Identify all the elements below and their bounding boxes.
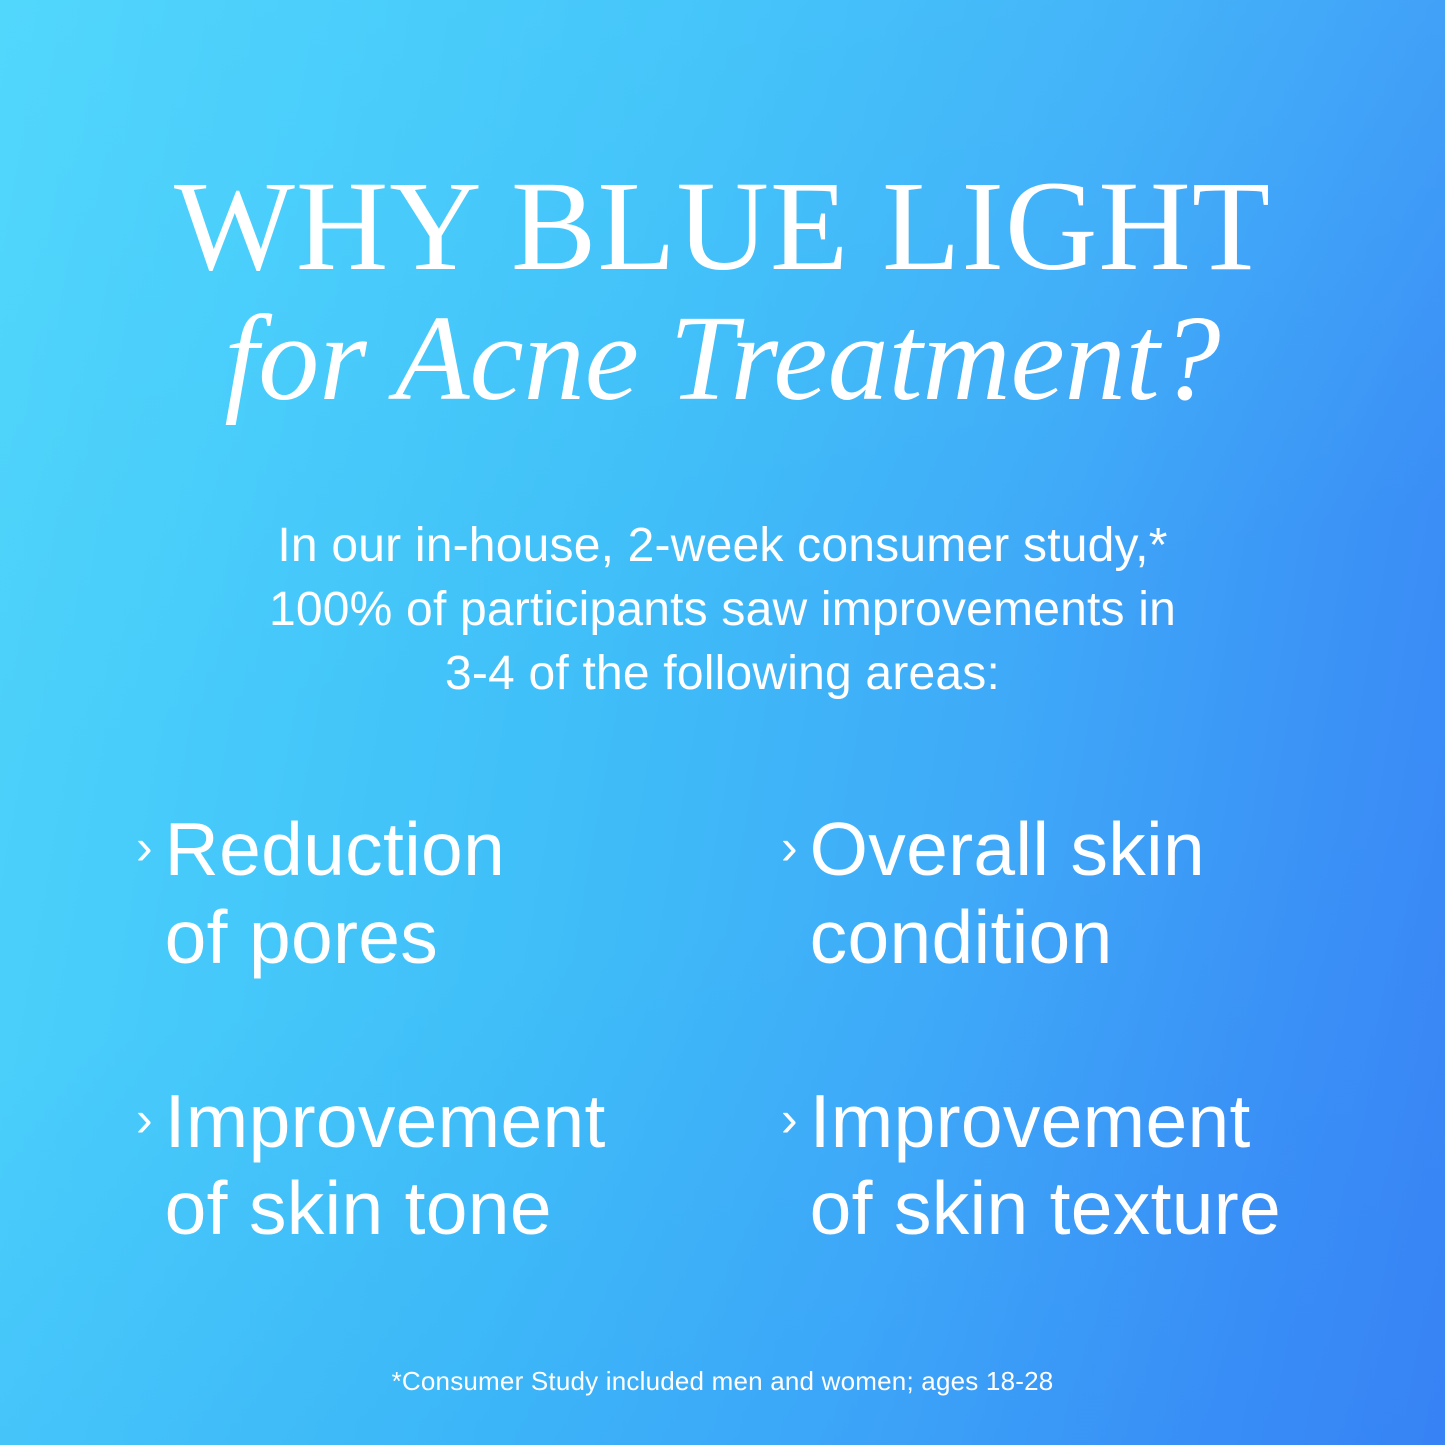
chevron-right-icon: › <box>136 1094 153 1144</box>
intro-line-2: 100% of participants saw improvements in <box>163 578 1283 642</box>
headline-line-primary: WHY BLUE LIGHT <box>0 161 1445 292</box>
benefit-label-line-2: condition <box>810 894 1205 982</box>
intro-paragraph: In our in-house, 2-week consumer study,*… <box>163 514 1283 705</box>
benefit-label-line-2: of skin texture <box>810 1165 1281 1253</box>
benefit-label-line-1: Overall skin <box>810 806 1205 894</box>
benefit-label-line-1: Improvement <box>165 1078 606 1166</box>
benefit-label-line-1: Improvement <box>810 1078 1281 1166</box>
footnote-disclaimer: *Consumer Study included men and women; … <box>0 1366 1445 1397</box>
benefit-item-improvement-of-skin-texture: › Improvement of skin texture <box>781 1078 1336 1254</box>
benefit-label-line-2: of pores <box>165 894 505 982</box>
benefit-label-line-2: of skin tone <box>165 1165 606 1253</box>
benefit-label: Reduction of pores <box>165 806 505 982</box>
benefits-grid: › Reduction of pores › Overall skin cond… <box>136 806 1336 1253</box>
headline-line-secondary: for Acne Treatment? <box>0 294 1445 423</box>
benefit-label: Overall skin condition <box>810 806 1205 982</box>
benefit-label: Improvement of skin texture <box>810 1078 1281 1254</box>
intro-line-1: In our in-house, 2-week consumer study,* <box>163 514 1283 578</box>
chevron-right-icon: › <box>781 822 798 872</box>
chevron-right-icon: › <box>781 1094 798 1144</box>
benefit-item-reduction-of-pores: › Reduction of pores <box>136 806 781 982</box>
promo-poster: WHY BLUE LIGHT for Acne Treatment? In ou… <box>0 0 1445 1445</box>
benefit-item-improvement-of-skin-tone: › Improvement of skin tone <box>136 1078 781 1254</box>
benefit-label-line-1: Reduction <box>165 806 505 894</box>
benefit-item-overall-skin-condition: › Overall skin condition <box>781 806 1336 982</box>
chevron-right-icon: › <box>136 822 153 872</box>
intro-line-3: 3-4 of the following areas: <box>163 642 1283 706</box>
benefit-label: Improvement of skin tone <box>165 1078 606 1254</box>
page-title: WHY BLUE LIGHT for Acne Treatment? <box>0 161 1445 423</box>
